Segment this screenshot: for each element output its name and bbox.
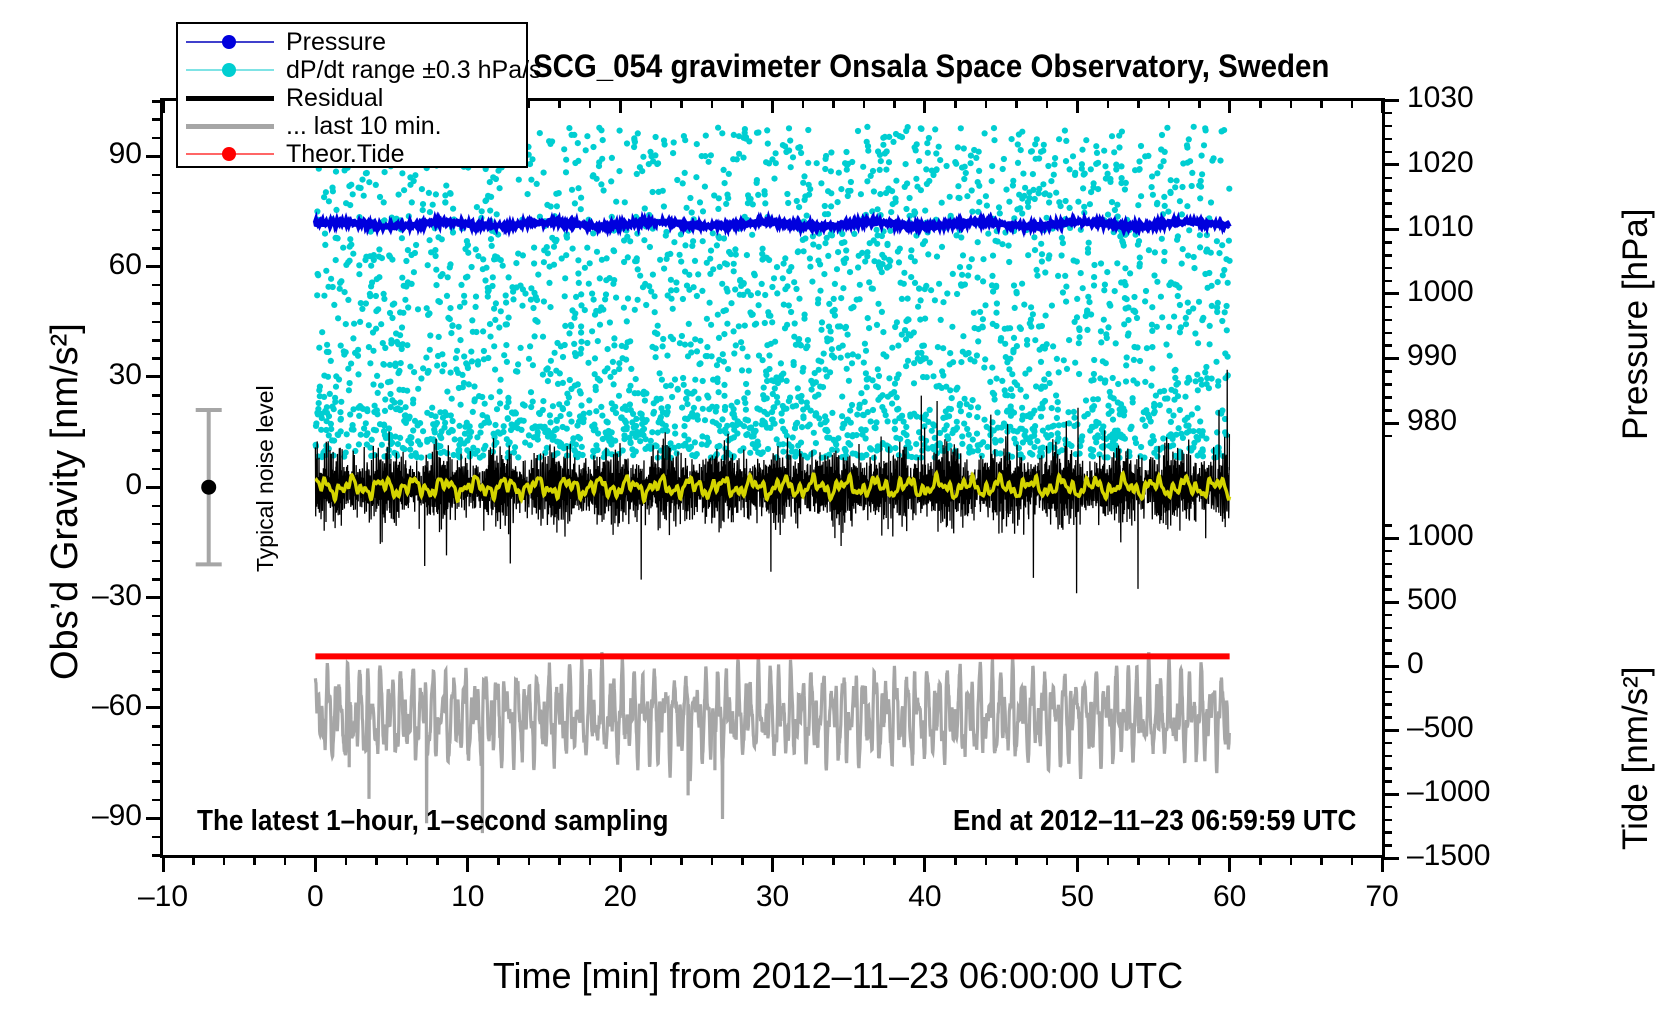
axis-tick-label: 1030: [1407, 83, 1527, 113]
axis-tick: [1382, 665, 1399, 668]
legend-item-residual[interactable]: Residual: [178, 84, 526, 112]
legend-label-pressure: Pressure: [274, 28, 386, 57]
axis-tick-label: 980: [1407, 406, 1527, 436]
axis-tick: [1382, 563, 1392, 566]
axis-tick: [1382, 575, 1392, 578]
axis-tick: [558, 855, 561, 865]
axis-tick: [711, 855, 714, 865]
axis-tick: [1137, 855, 1140, 865]
axis-tick: [741, 98, 744, 108]
axis-tick-label: 40: [855, 882, 995, 912]
axis-tick-label: 90: [0, 139, 142, 169]
plot-area: [160, 98, 1385, 858]
axis-tick: [1382, 409, 1392, 412]
axis-tick: [152, 394, 162, 397]
legend-item-pressure[interactable]: Pressure: [178, 28, 526, 56]
axis-tick: [152, 449, 162, 452]
axis-tick: [253, 855, 256, 865]
axis-tick: [923, 98, 926, 113]
data-traces: [163, 101, 1382, 855]
axis-tick: [1382, 177, 1392, 180]
axis-tick: [1107, 855, 1110, 865]
axis-tick: [1198, 98, 1201, 108]
axis-tick: [1382, 831, 1392, 834]
axis-tick: [1382, 691, 1392, 694]
axis-tick: [152, 413, 162, 416]
axis-tick: [1382, 151, 1392, 154]
gravimeter-chart: SCG_054 gravimeter Onsala Space Observat…: [0, 0, 1676, 1020]
axis-tick: [1382, 601, 1399, 604]
axis-tick: [1351, 98, 1354, 108]
axis-tick: [1382, 228, 1399, 231]
axis-tick: [152, 799, 162, 802]
axis-tick: [1382, 396, 1392, 399]
axis-tick: [146, 596, 163, 599]
axis-tick: [863, 855, 866, 865]
y-axis-label-left: Obs’d Gravity [nm/s²]: [44, 323, 87, 680]
axis-tick: [146, 817, 163, 820]
axis-tick: [152, 762, 162, 765]
axis-tick: [1382, 422, 1399, 425]
axis-tick: [1382, 332, 1392, 335]
sampling-caption: The latest 1–hour, 1–second sampling: [197, 805, 668, 838]
axis-tick: [152, 854, 162, 857]
axis-tick: [152, 302, 162, 305]
axis-tick: [1382, 767, 1392, 770]
axis-tick: [146, 706, 163, 709]
axis-tick: [152, 284, 162, 287]
axis-tick: [152, 174, 162, 177]
axis-tick: [589, 98, 592, 108]
axis-tick: [152, 780, 162, 783]
axis-tick-label: 1000: [1407, 277, 1527, 307]
axis-tick: [985, 855, 988, 865]
axis-tick: [1382, 537, 1399, 540]
axis-tick-label: –500: [1407, 713, 1537, 743]
axis-tick: [152, 229, 162, 232]
axis-tick-label: 1000: [1407, 521, 1537, 551]
legend-label-last10: ... last 10 min.: [274, 112, 442, 141]
axis-tick: [1076, 855, 1079, 872]
axis-tick: [497, 855, 500, 865]
legend: Pressure dP/dt range ±0.3 hPa/s Residual…: [176, 22, 528, 168]
axis-tick: [223, 855, 226, 865]
axis-tick-label: 10: [398, 882, 538, 912]
axis-tick: [162, 98, 165, 113]
axis-tick: [152, 670, 162, 673]
axis-tick: [192, 855, 195, 865]
axis-tick: [1382, 793, 1399, 796]
axis-tick: [528, 855, 531, 865]
axis-tick: [1382, 614, 1392, 617]
axis-tick: [152, 541, 162, 544]
legend-label-residual: Residual: [274, 84, 383, 113]
axis-tick: [1259, 855, 1262, 865]
axis-tick-label: 1010: [1407, 212, 1527, 242]
axis-tick-label: 990: [1407, 341, 1527, 371]
axis-tick-label: 1020: [1407, 148, 1527, 178]
axis-tick: [1382, 435, 1392, 438]
axis-tick: [146, 265, 163, 268]
axis-tick: [152, 836, 162, 839]
chart-title: SCG_054 gravimeter Onsala Space Observat…: [533, 48, 1329, 85]
axis-tick: [1107, 98, 1110, 108]
axis-tick: [1320, 855, 1323, 865]
axis-tick: [1382, 202, 1392, 205]
axis-tick: [466, 855, 469, 872]
axis-tick-label: 70: [1312, 882, 1452, 912]
axis-tick: [1382, 652, 1392, 655]
axis-tick-label: 30: [703, 882, 843, 912]
axis-tick: [832, 98, 835, 108]
axis-tick: [152, 137, 162, 140]
axis-tick: [1382, 729, 1399, 732]
axis-tick: [1382, 383, 1392, 386]
axis-tick: [436, 855, 439, 865]
axis-tick: [1382, 163, 1399, 166]
axis-tick: [832, 855, 835, 865]
axis-tick: [1382, 357, 1399, 360]
axis-tick: [152, 468, 162, 471]
axis-tick: [1382, 678, 1392, 681]
axis-tick: [1015, 98, 1018, 108]
axis-tick: [1382, 819, 1392, 822]
axis-tick: [345, 855, 348, 865]
axis-tick: [619, 98, 622, 113]
axis-tick: [1320, 98, 1323, 108]
axis-tick: [406, 855, 409, 865]
y-axis-label-tide: Tide [nm/s²]: [1616, 667, 1656, 850]
axis-tick: [1382, 524, 1392, 527]
axis-tick: [863, 98, 866, 108]
axis-tick-label: –1500: [1407, 841, 1537, 871]
axis-tick: [1228, 98, 1231, 113]
axis-tick: [802, 98, 805, 108]
axis-tick: [954, 855, 957, 865]
axis-tick: [152, 523, 162, 526]
axis-tick: [152, 192, 162, 195]
axis-tick: [1076, 98, 1079, 113]
legend-item-last10[interactable]: ... last 10 min.: [178, 112, 526, 140]
axis-tick: [1015, 855, 1018, 865]
axis-tick-label: 0: [1407, 649, 1537, 679]
axis-tick: [152, 321, 162, 324]
axis-tick: [619, 855, 622, 872]
axis-tick: [1382, 241, 1392, 244]
y-axis-label-pressure: Pressure [hPa]: [1616, 209, 1656, 441]
axis-tick: [650, 98, 653, 108]
axis-tick: [152, 633, 162, 636]
axis-tick: [152, 339, 162, 342]
axis-tick: [650, 855, 653, 865]
axis-tick: [1290, 98, 1293, 108]
axis-tick: [1382, 99, 1399, 102]
dpdt-scatter: [313, 124, 1233, 461]
axis-tick-label: –10: [93, 882, 233, 912]
axis-tick: [1382, 627, 1392, 630]
axis-tick: [1198, 855, 1201, 865]
axis-tick: [152, 505, 162, 508]
axis-tick: [680, 855, 683, 865]
axis-tick: [162, 855, 165, 872]
axis-tick: [152, 118, 162, 121]
axis-tick: [1382, 588, 1392, 591]
typical-noise-level-label: Typical noise level: [252, 385, 279, 572]
legend-item-dpdt[interactable]: dP/dt range ±0.3 hPa/s: [178, 56, 526, 84]
axis-tick: [711, 98, 714, 108]
axis-tick: [589, 855, 592, 865]
legend-key-last10: [186, 116, 274, 136]
axis-tick: [1382, 292, 1399, 295]
axis-tick: [1382, 344, 1392, 347]
axis-tick: [1351, 855, 1354, 865]
axis-tick-label: –60: [0, 691, 142, 721]
axis-tick: [1382, 189, 1392, 192]
axis-tick: [152, 210, 162, 213]
axis-tick-label: 60: [0, 250, 142, 280]
axis-tick: [1382, 857, 1399, 860]
axis-tick: [1382, 125, 1392, 128]
axis-tick: [1046, 855, 1049, 865]
legend-key-dpdt: [186, 60, 274, 80]
axis-tick: [1046, 98, 1049, 108]
axis-tick: [152, 578, 162, 581]
axis-tick: [1382, 703, 1392, 706]
axis-tick: [680, 98, 683, 108]
axis-tick: [1382, 844, 1392, 847]
axis-tick: [1382, 550, 1392, 553]
axis-tick: [802, 855, 805, 865]
axis-tick: [1382, 319, 1392, 322]
axis-tick: [558, 98, 561, 108]
axis-tick: [741, 855, 744, 865]
axis-tick: [152, 357, 162, 360]
axis-tick: [284, 855, 287, 865]
axis-tick: [152, 100, 162, 103]
legend-key-pressure: [186, 32, 274, 52]
axis-tick-label: 50: [1007, 882, 1147, 912]
axis-tick: [985, 98, 988, 108]
axis-tick: [1382, 254, 1392, 257]
axis-tick: [146, 375, 163, 378]
pressure-trace: [315, 220, 1229, 229]
axis-tick: [893, 855, 896, 865]
axis-tick: [923, 855, 926, 872]
axis-tick: [1382, 716, 1392, 719]
axis-tick: [1382, 138, 1392, 141]
axis-tick-label: 500: [1407, 585, 1537, 615]
axis-tick: [1382, 112, 1392, 115]
axis-tick: [1381, 855, 1384, 872]
axis-tick-label: –90: [0, 801, 142, 831]
axis-tick: [1382, 755, 1392, 758]
axis-tick: [1382, 215, 1392, 218]
axis-tick: [1259, 98, 1262, 108]
axis-tick: [152, 431, 162, 434]
axis-tick: [1137, 98, 1140, 108]
end-time-caption: End at 2012–11–23 06:59:59 UTC: [953, 805, 1356, 838]
axis-tick: [954, 98, 957, 108]
axis-tick: [1382, 806, 1392, 809]
axis-tick-label: 60: [1160, 882, 1300, 912]
axis-tick: [152, 560, 162, 563]
axis-tick: [1168, 855, 1171, 865]
axis-tick: [152, 744, 162, 747]
axis-tick: [146, 486, 163, 489]
axis-tick: [1382, 780, 1392, 783]
axis-tick: [1382, 742, 1392, 745]
axis-tick: [1382, 306, 1392, 309]
legend-label-dpdt: dP/dt range ±0.3 hPa/s: [274, 56, 542, 85]
axis-tick: [152, 725, 162, 728]
axis-tick: [1381, 98, 1384, 113]
legend-key-tide: [186, 144, 274, 164]
axis-tick-label: –1000: [1407, 777, 1537, 807]
axis-tick: [1290, 855, 1293, 865]
axis-tick: [1382, 370, 1392, 373]
axis-tick: [893, 98, 896, 108]
axis-tick: [146, 155, 163, 158]
axis-tick: [1168, 98, 1171, 108]
axis-tick: [152, 247, 162, 250]
typical-noise-level-errorbar: [196, 410, 222, 564]
axis-tick: [1382, 639, 1392, 642]
axis-tick: [528, 98, 531, 108]
axis-tick-label: 20: [550, 882, 690, 912]
legend-item-tide[interactable]: Theor.Tide: [178, 140, 526, 168]
axis-tick: [771, 855, 774, 872]
axis-tick: [314, 855, 317, 872]
x-axis-label: Time [min] from 2012–11–23 06:00:00 UTC: [493, 955, 1183, 997]
axis-tick-label: 0: [245, 882, 385, 912]
axis-tick: [375, 855, 378, 865]
axis-tick: [152, 615, 162, 618]
axis-tick: [1382, 267, 1392, 270]
legend-key-residual: [186, 88, 274, 108]
legend-label-tide: Theor.Tide: [274, 140, 405, 169]
axis-tick: [1382, 280, 1392, 283]
axis-tick: [152, 652, 162, 655]
axis-tick: [1228, 855, 1231, 872]
axis-tick: [152, 688, 162, 691]
axis-tick: [771, 98, 774, 113]
